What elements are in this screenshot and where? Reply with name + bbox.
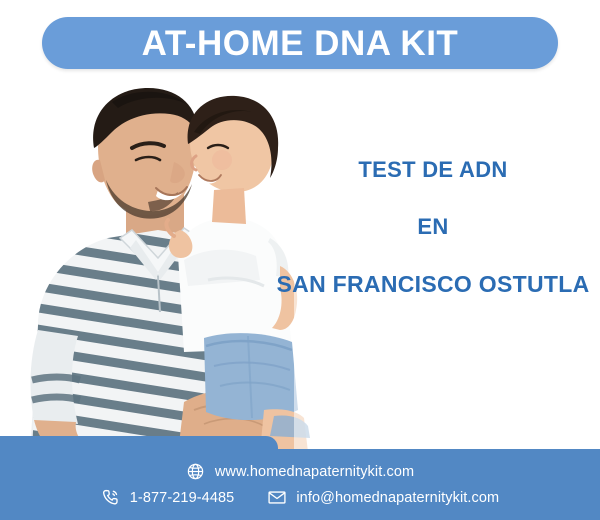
phone-icon xyxy=(101,488,121,508)
footer-row-website: www.homednapaternitykit.com xyxy=(0,462,600,482)
page-title: AT-HOME DNA KIT xyxy=(142,26,459,61)
email-text: info@homednapaternitykit.com xyxy=(296,490,499,506)
headline-line-3: SAN FRANCISCO OSTUTLA xyxy=(268,272,598,296)
envelope-icon xyxy=(267,488,287,508)
phone-text: 1-877-219-4485 xyxy=(130,490,235,506)
globe-icon xyxy=(186,462,206,482)
footer-contact-rows: www.homednapaternitykit.com 1-877-219-44… xyxy=(0,449,600,520)
headline-line-2: EN xyxy=(268,215,598,238)
website-item[interactable]: www.homednapaternitykit.com xyxy=(186,462,414,482)
headline-line-1: TEST DE ADN xyxy=(268,158,598,181)
website-text: www.homednapaternitykit.com xyxy=(215,464,414,480)
footer-row-phone-email: 1-877-219-4485 info@homednapaternitykit.… xyxy=(0,488,600,508)
email-item[interactable]: info@homednapaternitykit.com xyxy=(267,488,499,508)
phone-item[interactable]: 1-877-219-4485 xyxy=(101,488,235,508)
poster-root: AT-HOME DNA KIT xyxy=(0,0,600,520)
headline-block: TEST DE ADN EN SAN FRANCISCO OSTUTLA xyxy=(268,158,598,296)
header-banner: AT-HOME DNA KIT xyxy=(42,17,558,69)
